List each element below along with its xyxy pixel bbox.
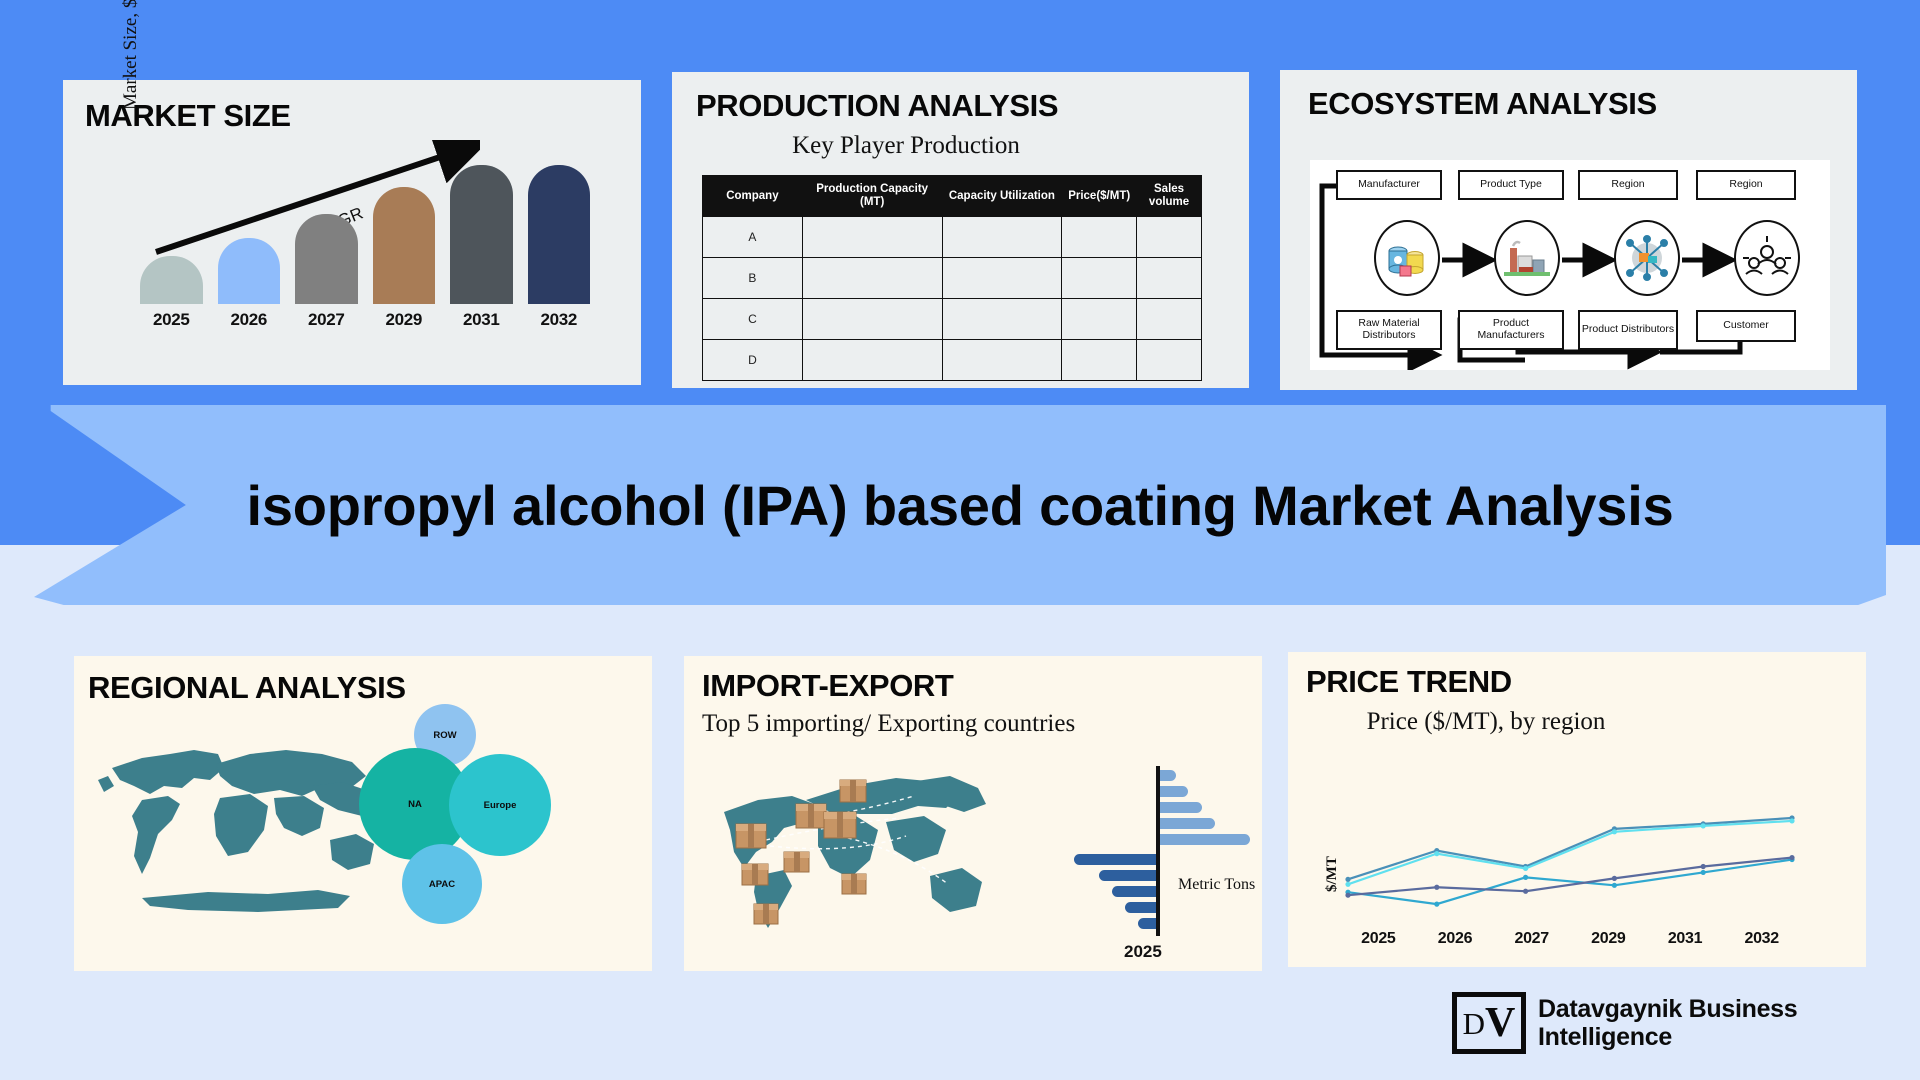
price-trend-line-chart bbox=[1340, 807, 1800, 922]
table-cell-utilization bbox=[942, 217, 1062, 258]
eco-bottom-box-0: Raw Material Distributors bbox=[1336, 310, 1442, 350]
table-cell-company: A bbox=[703, 217, 803, 258]
bubble-europe: Europe bbox=[449, 754, 551, 856]
tornado-bar-export-0 bbox=[1074, 854, 1156, 865]
table-row: A bbox=[703, 217, 1202, 258]
price-x-tick: 2032 bbox=[1723, 930, 1800, 948]
panel-production-analysis: PRODUCTION ANALYSIS Key Player Productio… bbox=[672, 72, 1249, 388]
bar-year-label: 2025 bbox=[153, 310, 190, 330]
infographic-canvas: MARKET SIZE Market Size, $, Mn CAGR 2025… bbox=[0, 0, 1920, 1080]
panel-import-export: IMPORT-EXPORT Top 5 importing/ Exporting… bbox=[684, 656, 1262, 971]
key-player-production-table: CompanyProduction Capacity (MT)Capacity … bbox=[702, 175, 1202, 381]
bar-year-label: 2026 bbox=[230, 310, 267, 330]
price-line-3 bbox=[1348, 858, 1792, 896]
bubble-apac: APAC bbox=[402, 844, 482, 924]
table-cell-capacity bbox=[802, 299, 942, 340]
tornado-bar-import-2 bbox=[1160, 802, 1202, 813]
eco-top-box-0: Manufacturer bbox=[1336, 170, 1442, 200]
price-point-3-4 bbox=[1701, 864, 1706, 869]
market-size-plot: 202520262027202920312032 bbox=[140, 165, 590, 360]
distribution-network-icon bbox=[1614, 220, 1680, 296]
table-cell-price bbox=[1062, 299, 1137, 340]
price-point-3-0 bbox=[1345, 893, 1350, 898]
tornado-bar-import-3 bbox=[1160, 818, 1215, 829]
price-point-1-5 bbox=[1789, 818, 1794, 823]
bar-year-label: 2027 bbox=[308, 310, 345, 330]
table-cell-company: D bbox=[703, 340, 803, 381]
bar-rect bbox=[218, 238, 281, 304]
tornado-bar-export-4 bbox=[1138, 918, 1156, 929]
table-cell-utilization bbox=[942, 258, 1062, 299]
bar-rect bbox=[373, 187, 436, 304]
regional-analysis-title: REGIONAL ANALYSIS bbox=[88, 670, 406, 706]
table-cell-capacity bbox=[802, 258, 942, 299]
table-col-header: Capacity Utilization bbox=[942, 176, 1062, 217]
import-export-subtitle: Top 5 importing/ Exporting countries bbox=[702, 710, 1162, 738]
price-point-0-0 bbox=[1345, 877, 1350, 882]
table-col-header: Company bbox=[703, 176, 803, 217]
price-trend-title: PRICE TREND bbox=[1306, 664, 1512, 700]
bar-rect bbox=[450, 165, 513, 304]
eco-bottom-box-1: Product Manufacturers bbox=[1458, 310, 1564, 350]
market-size-bar-2025: 2025 bbox=[140, 165, 203, 330]
table-row: D bbox=[703, 340, 1202, 381]
market-size-bar-group: 202520262027202920312032 bbox=[140, 165, 590, 330]
tornado-bar-export-2 bbox=[1112, 886, 1156, 897]
table-cell-sales bbox=[1137, 340, 1202, 381]
ecosystem-analysis-title: ECOSYSTEM ANALYSIS bbox=[1308, 86, 1657, 122]
table-cell-utilization bbox=[942, 299, 1062, 340]
bar-year-label: 2029 bbox=[385, 310, 422, 330]
price-trend-subtitle: Price ($/MT), by region bbox=[1346, 706, 1626, 737]
panel-regional-analysis: REGIONAL ANALYSIS ROW NA Europe bbox=[74, 656, 652, 971]
page-title: isopropyl alcohol (IPA) based coating Ma… bbox=[246, 473, 1673, 538]
table-cell-price bbox=[1062, 340, 1137, 381]
logo-letter-v: V bbox=[1485, 1002, 1515, 1044]
table-cell-company: C bbox=[703, 299, 803, 340]
price-point-3-5 bbox=[1789, 855, 1794, 860]
table-cell-company: B bbox=[703, 258, 803, 299]
bar-rect bbox=[528, 165, 591, 304]
market-size-bar-2032: 2032 bbox=[528, 165, 591, 330]
bubble-label-apac: APAC bbox=[429, 879, 455, 890]
eco-top-box-1: Product Type bbox=[1458, 170, 1564, 200]
table-body: ABCD bbox=[703, 217, 1202, 381]
trade-flow-map-icon bbox=[710, 756, 1040, 946]
table-row: B bbox=[703, 258, 1202, 299]
market-size-bar-2027: 2027 bbox=[295, 165, 358, 330]
table-col-header: Sales volume bbox=[1137, 176, 1202, 217]
price-line-2 bbox=[1348, 860, 1792, 905]
bar-rect bbox=[140, 256, 203, 304]
tornado-bar-import-4 bbox=[1160, 834, 1250, 845]
panel-ecosystem-analysis: ECOSYSTEM ANALYSIS Manufacturer Product … bbox=[1280, 70, 1857, 390]
market-size-bar-2031: 2031 bbox=[450, 165, 513, 330]
bar-rect bbox=[295, 214, 358, 304]
production-analysis-subtitle: Key Player Production bbox=[696, 132, 1116, 160]
table-header-row: CompanyProduction Capacity (MT)Capacity … bbox=[703, 176, 1202, 217]
drums-icon bbox=[1374, 220, 1440, 296]
factory-icon bbox=[1494, 220, 1560, 296]
bar-year-label: 2031 bbox=[463, 310, 500, 330]
world-map-icon bbox=[98, 724, 408, 924]
price-x-tick: 2027 bbox=[1493, 930, 1570, 948]
table-cell-sales bbox=[1137, 258, 1202, 299]
table-cell-capacity bbox=[802, 340, 942, 381]
logo-wordmark: Datavgaynik Business Intelligence bbox=[1538, 995, 1797, 1051]
tornado-bar-export-1 bbox=[1099, 870, 1156, 881]
tornado-bar-import-0 bbox=[1160, 770, 1176, 781]
import-export-tornado-chart: Metric Tons 2025 bbox=[1074, 766, 1254, 941]
price-trend-y-axis-label: $/MT bbox=[1324, 856, 1341, 892]
table-cell-sales bbox=[1137, 217, 1202, 258]
price-point-1-4 bbox=[1701, 823, 1706, 828]
bar-year-label: 2032 bbox=[540, 310, 577, 330]
price-line-1 bbox=[1348, 821, 1792, 884]
logo-mark-icon: D V bbox=[1452, 992, 1526, 1054]
price-point-2-1 bbox=[1434, 902, 1439, 907]
tornado-bar-export-3 bbox=[1125, 902, 1156, 913]
eco-bottom-box-2: Product Distributors bbox=[1578, 310, 1678, 350]
price-point-2-4 bbox=[1701, 870, 1706, 875]
table-cell-capacity bbox=[802, 217, 942, 258]
table-cell-price bbox=[1062, 258, 1137, 299]
table-row: C bbox=[703, 299, 1202, 340]
price-x-tick: 2031 bbox=[1647, 930, 1724, 948]
logo-letter-d: D bbox=[1463, 1008, 1485, 1039]
main-title-ribbon: isopropyl alcohol (IPA) based coating Ma… bbox=[34, 405, 1886, 605]
price-point-1-1 bbox=[1434, 851, 1439, 856]
panel-price-trend: PRICE TREND Price ($/MT), by region $/MT… bbox=[1288, 652, 1866, 967]
table-col-header: Price($/MT) bbox=[1062, 176, 1137, 217]
price-point-2-2 bbox=[1523, 875, 1528, 880]
production-analysis-title: PRODUCTION ANALYSIS bbox=[696, 88, 1058, 124]
table-cell-utilization bbox=[942, 340, 1062, 381]
customers-icon bbox=[1734, 220, 1800, 296]
logo-line-2: Intelligence bbox=[1538, 1023, 1797, 1051]
table-cell-price bbox=[1062, 217, 1137, 258]
eco-top-box-3: Region bbox=[1696, 170, 1796, 200]
tornado-year-label: 2025 bbox=[1124, 942, 1162, 962]
price-trend-x-axis: 202520262027202920312032 bbox=[1340, 930, 1800, 948]
tornado-bar-import-1 bbox=[1160, 786, 1188, 797]
ecosystem-flow-diagram: Manufacturer Product Type Region Region bbox=[1310, 160, 1830, 370]
price-x-tick: 2025 bbox=[1340, 930, 1417, 948]
price-x-tick: 2026 bbox=[1417, 930, 1494, 948]
table-cell-sales bbox=[1137, 299, 1202, 340]
price-point-3-3 bbox=[1612, 876, 1617, 881]
bubble-label-europe: Europe bbox=[484, 800, 517, 811]
eco-bottom-box-3: Customer bbox=[1696, 310, 1796, 342]
price-point-1-2 bbox=[1523, 866, 1528, 871]
price-point-3-2 bbox=[1523, 889, 1528, 894]
brand-logo: D V Datavgaynik Business Intelligence bbox=[1452, 992, 1797, 1054]
market-size-title: MARKET SIZE bbox=[85, 98, 291, 134]
tornado-unit-label: Metric Tons bbox=[1178, 876, 1255, 894]
table-col-header: Production Capacity (MT) bbox=[802, 176, 942, 217]
price-point-2-3 bbox=[1612, 883, 1617, 888]
logo-line-1: Datavgaynik Business bbox=[1538, 995, 1797, 1023]
price-point-3-1 bbox=[1434, 885, 1439, 890]
price-point-1-3 bbox=[1612, 829, 1617, 834]
market-size-y-axis-label: Market Size, $, Mn bbox=[120, 0, 142, 110]
price-point-1-0 bbox=[1345, 882, 1350, 887]
market-size-bar-2029: 2029 bbox=[373, 165, 436, 330]
market-size-bar-2026: 2026 bbox=[218, 165, 281, 330]
bubble-label-na: NA bbox=[408, 799, 422, 810]
bubble-label-row: ROW bbox=[433, 730, 456, 741]
eco-top-box-2: Region bbox=[1578, 170, 1678, 200]
price-x-tick: 2029 bbox=[1570, 930, 1647, 948]
import-export-title: IMPORT-EXPORT bbox=[702, 668, 953, 704]
